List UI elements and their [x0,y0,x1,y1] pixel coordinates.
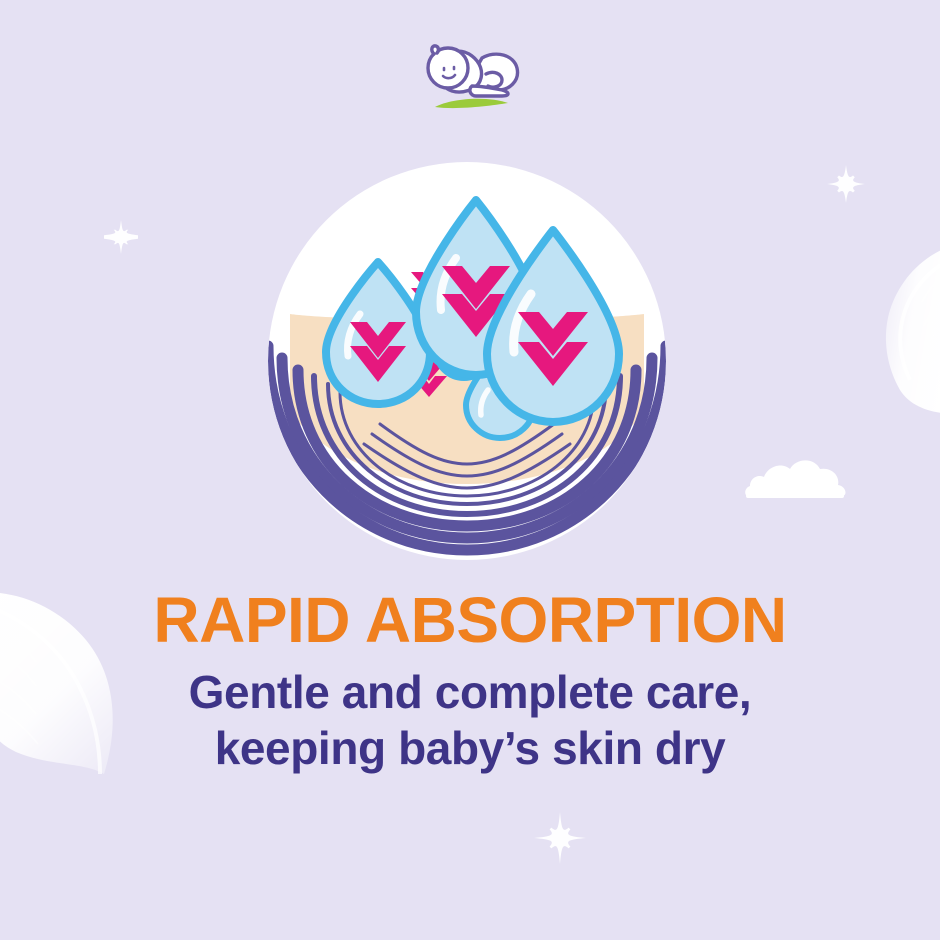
cloud-right-icon [744,452,854,502]
logo-swoosh-icon [435,99,508,108]
feather-right-icon [866,244,940,414]
sparkle-top-right-icon [826,164,866,204]
page-title: RAPID ABSORPTION [0,586,940,654]
sparkle-left-icon [104,220,138,254]
page-subtitle: Gentle and complete care, keeping baby’s… [0,664,940,776]
brand-logo [410,34,530,114]
promo-card: RAPID ABSORPTION Gentle and complete car… [0,0,940,940]
droplet-medium-left [326,262,430,404]
page-subtitle-line-1: Gentle and complete care, [0,664,940,720]
sparkle-bottom-center-icon [534,812,586,864]
page-subtitle-line-2: keeping baby’s skin dry [0,720,940,776]
illustration-circle [268,162,666,560]
baby-lying-logo-icon [410,34,530,114]
text-block: RAPID ABSORPTION Gentle and complete car… [0,586,940,776]
rapid-absorption-illustration [268,162,666,560]
